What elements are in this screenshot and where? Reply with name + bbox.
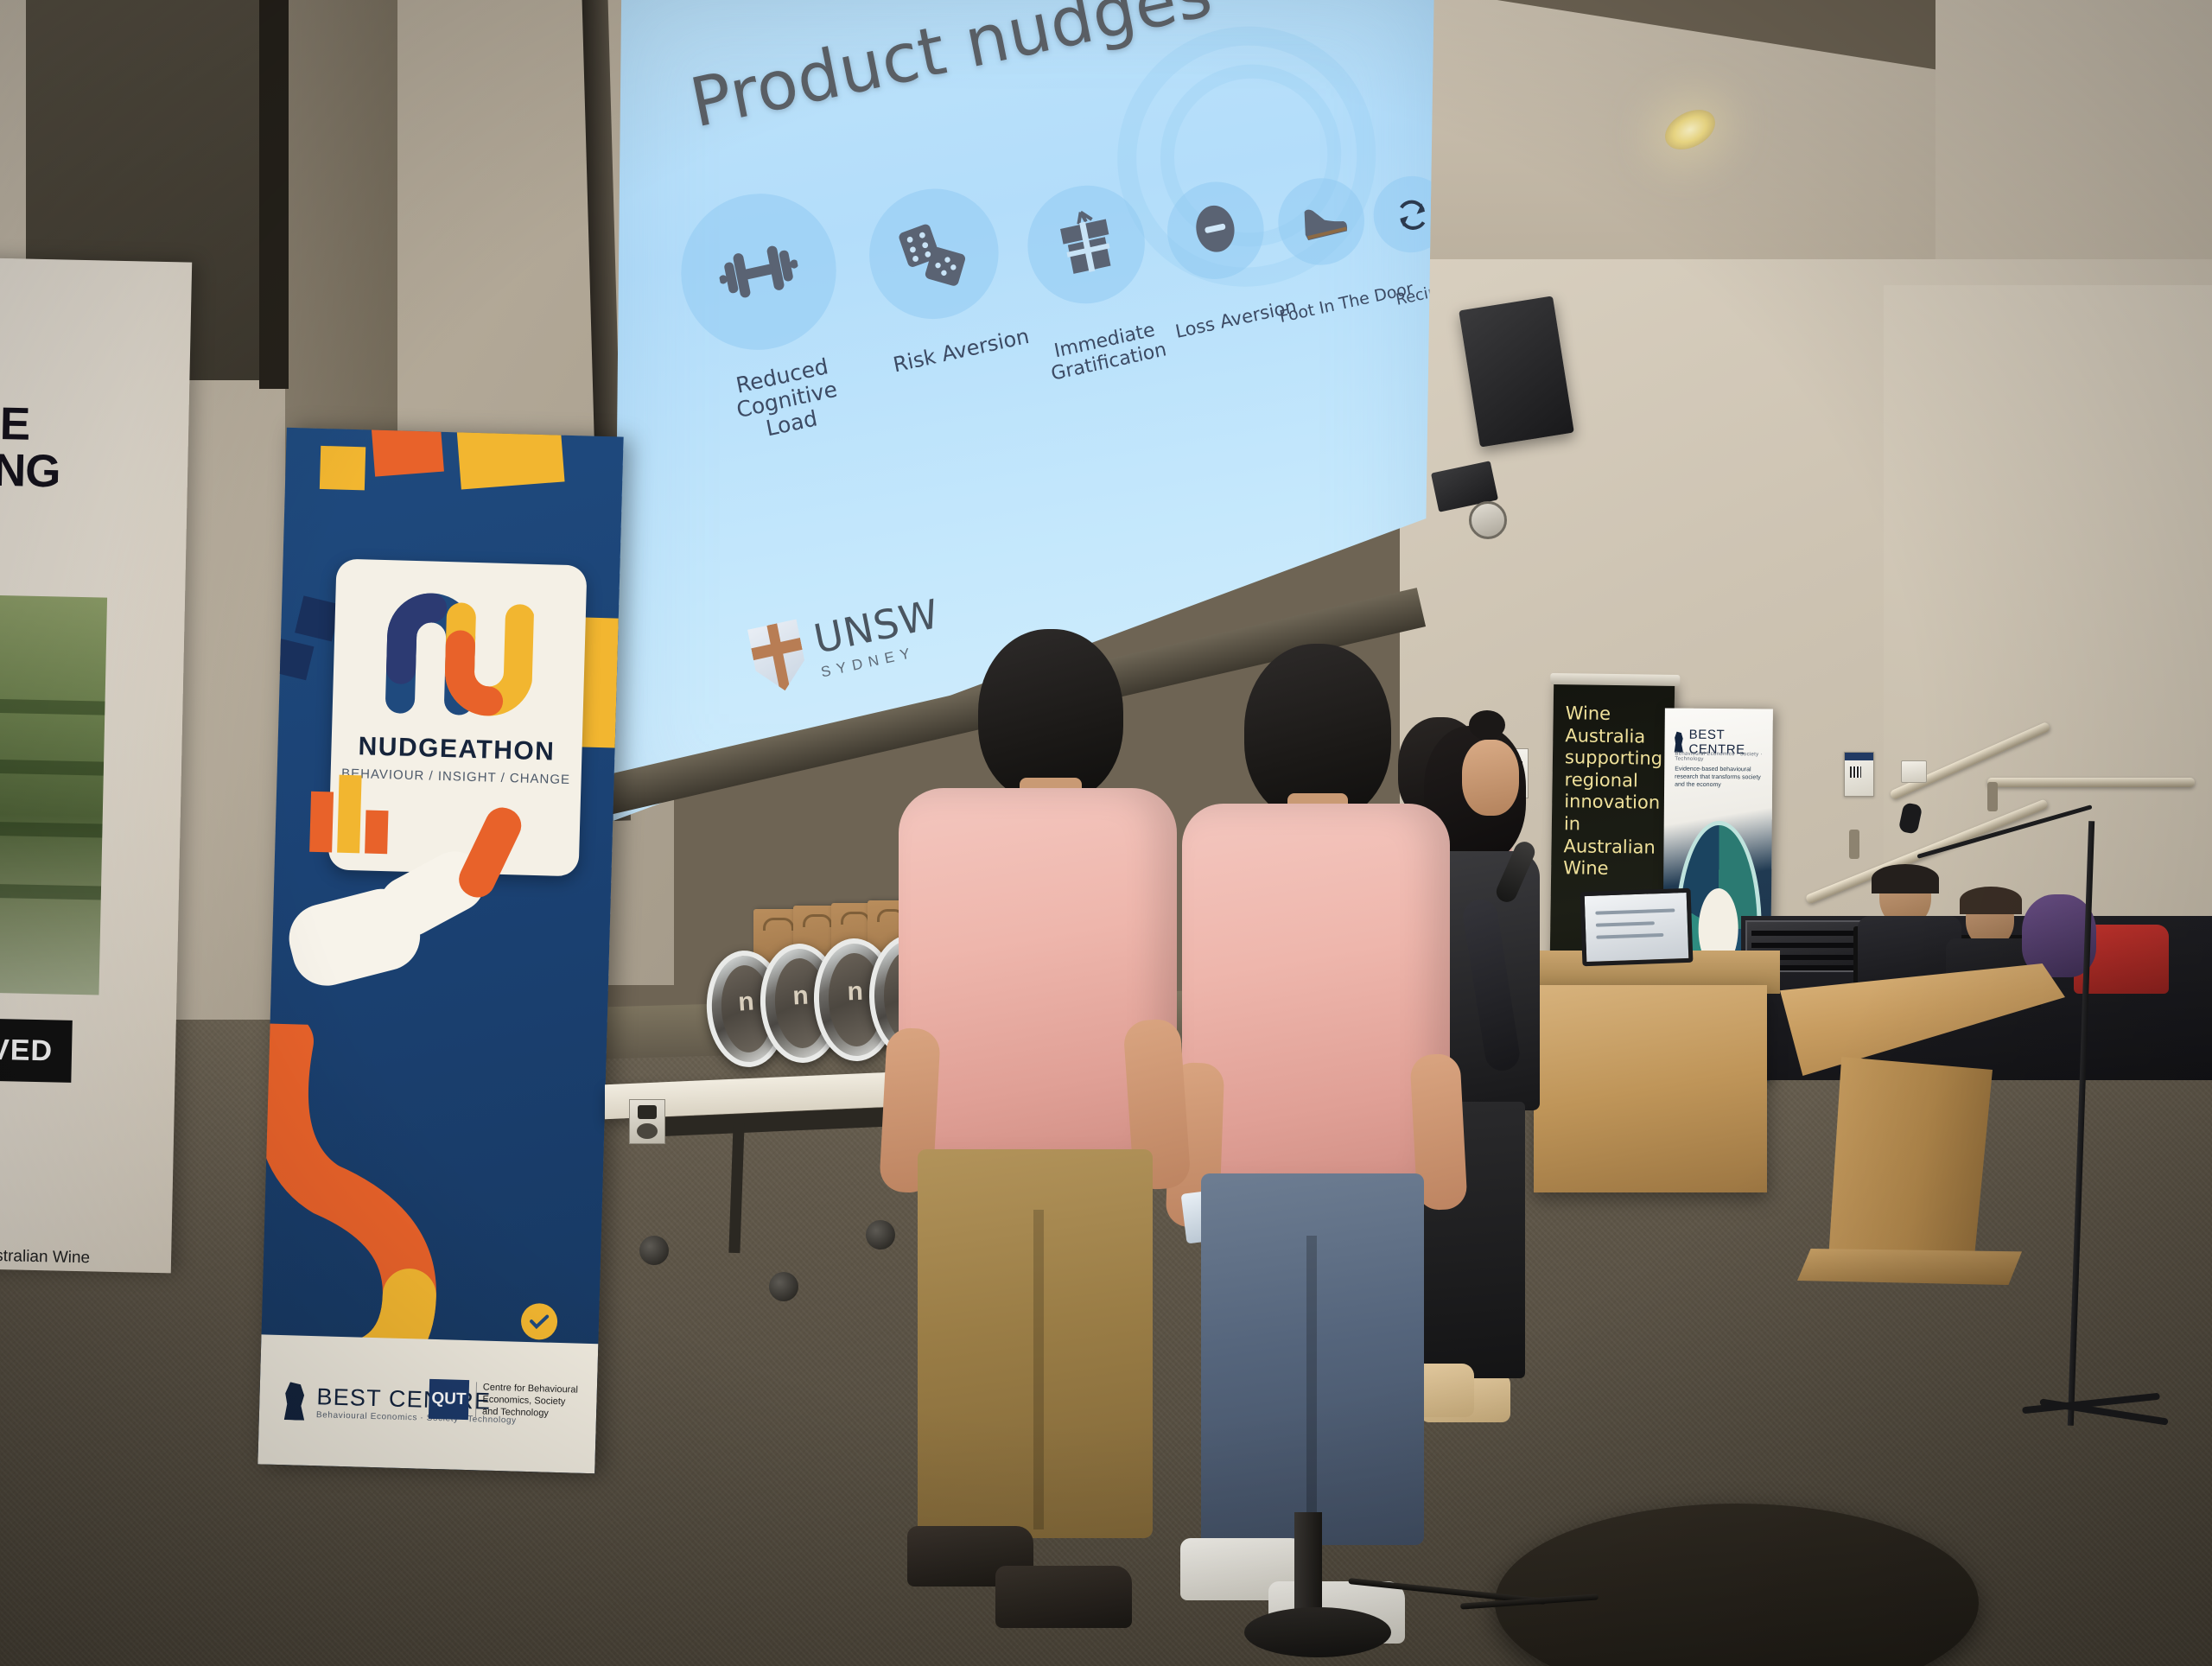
presenter-head [978, 629, 1123, 802]
lecture-theatre-photo: Product nudges [0, 0, 2212, 1666]
wall-light-switch[interactable] [1901, 760, 1927, 783]
nudgeathon-wordmark: NUDGEATHON [331, 731, 582, 767]
decor-block [320, 446, 365, 490]
window-mullion [259, 0, 289, 389]
circular-arrows-icon [1385, 188, 1440, 243]
bar-chart-bar [309, 792, 334, 853]
banner-top-cap [1550, 673, 1680, 686]
qr-code-poster [1844, 752, 1874, 797]
nudgeathon-tagline: BEHAVIOUR / INSIGHT / CHANGE [330, 766, 581, 787]
banner-nudgeathon: NUDGEATHON BEHAVIOUR / INSIGHT / CHANGE [257, 428, 623, 1473]
nudgeathon-n-logo [385, 586, 535, 720]
award-n-engraving: n [792, 981, 810, 1011]
jeans-seam [1306, 1236, 1317, 1538]
best-centre-mark-icon [1673, 732, 1684, 753]
award-n-engraving: n [847, 977, 864, 1008]
award-n-engraving: n [737, 987, 755, 1017]
wine-australia-text: Wine Australia supporting regional innov… [1563, 703, 1668, 881]
dumbbell-icon [706, 218, 811, 325]
presenter-shoe [995, 1566, 1132, 1628]
handrail-post [1987, 782, 1998, 811]
get-involved-label: GET INVOLVED [0, 1029, 53, 1067]
presenter-laptop [1580, 888, 1694, 966]
banner-footer: BEST CENTRE Behavioural Economics · Soci… [257, 1334, 598, 1473]
outlet-switch-icon [638, 1105, 657, 1119]
lectern-body [1828, 1057, 1993, 1273]
banner-script-text: e of e [0, 704, 44, 758]
qr-code-icon [1850, 766, 1861, 778]
stair-handrail [1987, 778, 2195, 787]
decor-block [457, 428, 565, 490]
banner-headline: TAINABLE EGROWING TRALIA [0, 397, 111, 543]
table-caster [639, 1236, 669, 1265]
get-involved-band: GET INVOLVED [0, 1014, 73, 1083]
presenter-shirt [1182, 804, 1450, 1192]
lectern-base [1797, 1249, 2022, 1285]
vineyard-photo [0, 591, 107, 995]
bar-chart-bar [365, 811, 388, 855]
technician-hair [1872, 864, 1939, 893]
handrail-post [1849, 830, 1859, 859]
banner-sustainable-winegrowing: TAINABLE EGROWING TRALIA e of e GET INVO… [0, 257, 192, 1274]
qut-mark: QUT [429, 1379, 469, 1420]
awri-label: The Australian Wine Research Institute [0, 1245, 90, 1273]
table-caster [866, 1220, 895, 1249]
trouser-seam [1033, 1210, 1044, 1529]
table-caster [769, 1272, 798, 1301]
host-hair-bun [1469, 710, 1505, 740]
wall-clock [1469, 501, 1507, 539]
best-centre-mark-icon [282, 1382, 308, 1421]
technician-hair [1960, 887, 2022, 914]
awri-logo: The Australian Wine Research Institute [0, 1237, 90, 1273]
qut-logo: QUT Centre for Behavioural Economics, So… [429, 1379, 578, 1423]
qut-centre-label: Centre for Behavioural Economics, Societ… [475, 1383, 578, 1421]
wooden-lectern [1780, 963, 2065, 1275]
nudge-label: Reduced Cognitive Load [683, 343, 891, 456]
presenter-desk [1534, 985, 1767, 1192]
stool-column [1294, 1512, 1322, 1616]
best-centre-tagline: Evidence-based behavioural research that… [1675, 766, 1764, 790]
gift-icon [1049, 202, 1125, 282]
host-face [1462, 740, 1519, 816]
mic-stand-base [1244, 1512, 1391, 1663]
bar-chart-bar [337, 775, 362, 854]
wall-power-outlet[interactable] [629, 1099, 665, 1144]
best-centre-subtitle: Behavioural Economics · Society · Techno… [1675, 752, 1772, 763]
stool-foot [1244, 1607, 1391, 1657]
dice-icon [891, 211, 978, 300]
minus-circle-icon [1183, 196, 1248, 262]
lectern-top [1780, 963, 2065, 1076]
outlet-socket-icon [637, 1123, 658, 1139]
decor-block [371, 428, 444, 477]
poster-header-bar [1845, 753, 1873, 760]
